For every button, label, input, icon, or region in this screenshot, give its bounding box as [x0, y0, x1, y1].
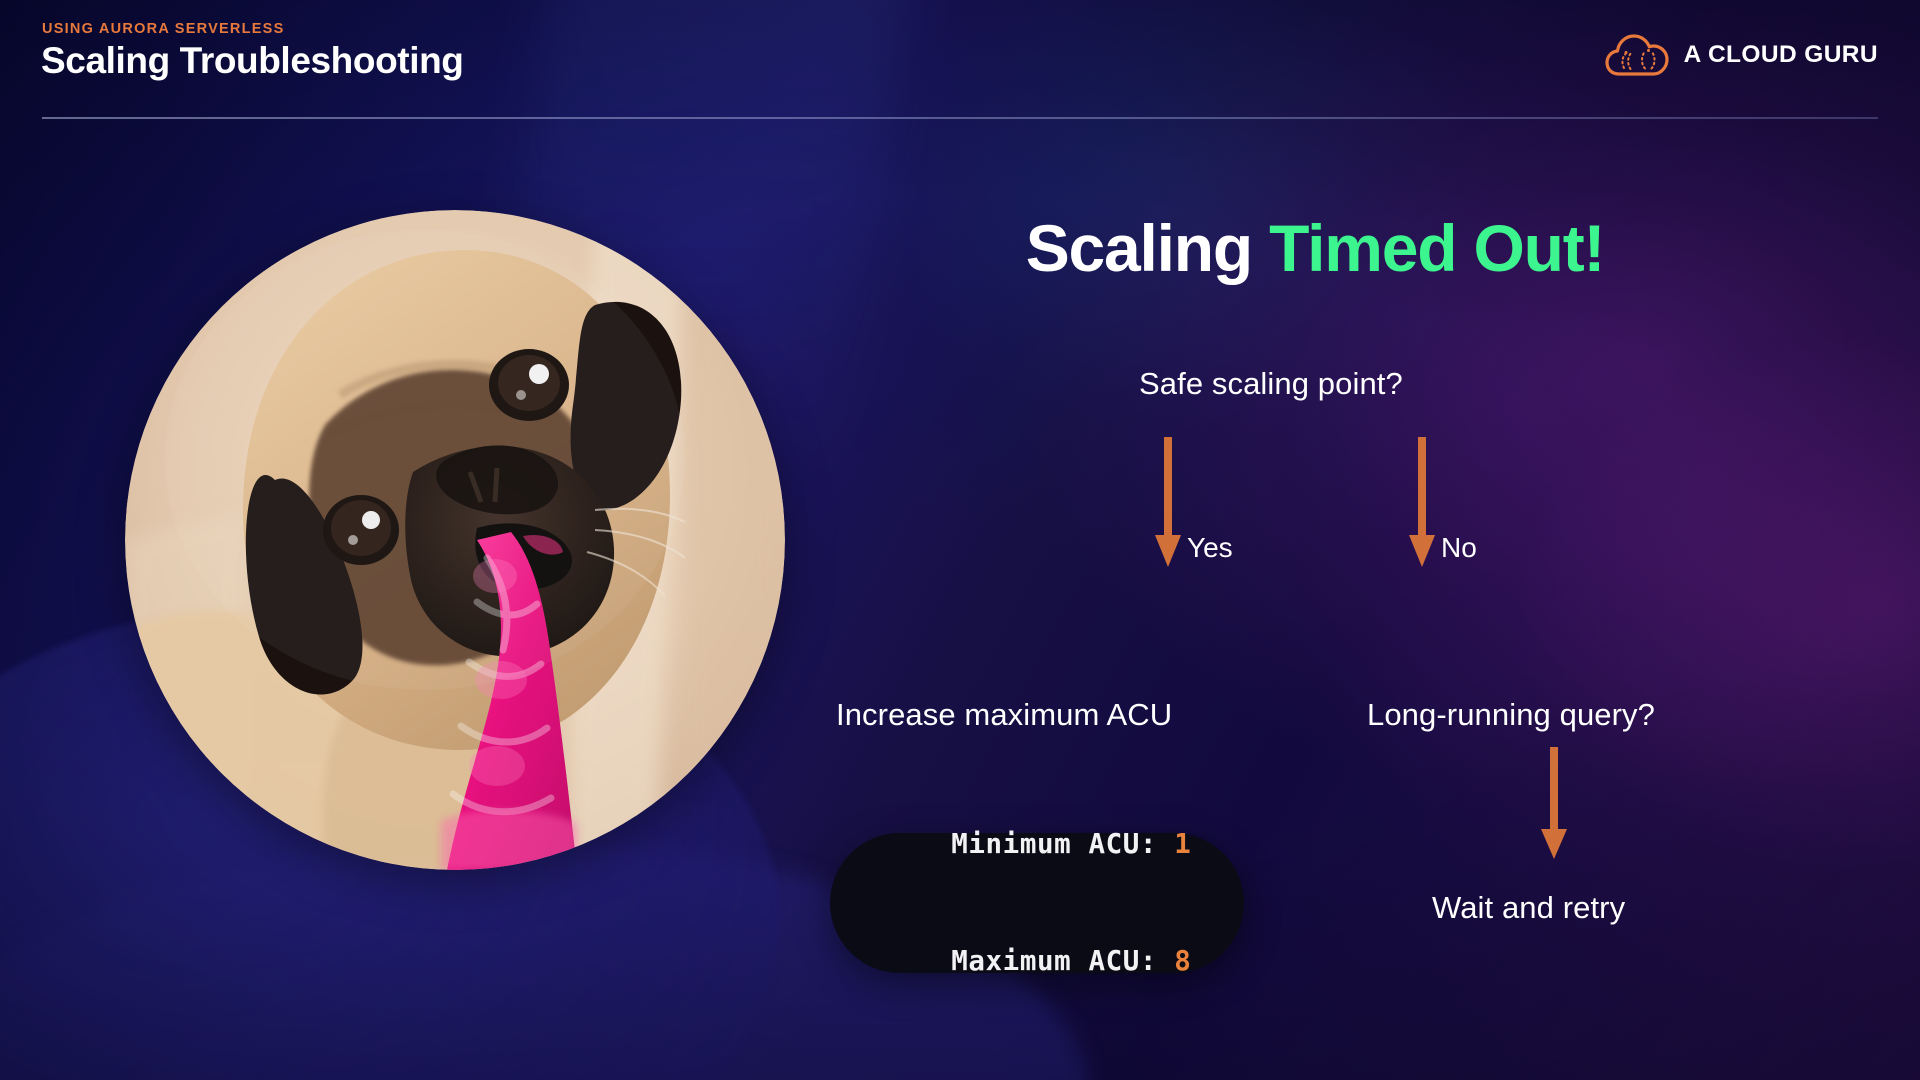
header-divider	[42, 117, 1878, 119]
flow-edge-label-yes: Yes	[1187, 532, 1233, 564]
code-label-minimum-acu: Minimum ACU:	[951, 828, 1174, 860]
cloud-icon	[1605, 32, 1669, 78]
arrow-down-yes-icon	[1155, 437, 1181, 567]
flow-edge-label-no: No	[1441, 532, 1477, 564]
arrow-down-no-icon	[1409, 437, 1435, 567]
code-value-minimum-acu: 1	[1174, 828, 1191, 860]
main-title-green: Timed Out!	[1269, 211, 1604, 285]
pug-photo	[125, 210, 785, 870]
code-line-minimum-acu: Minimum ACU: 1	[883, 786, 1192, 903]
course-kicker: USING AURORA SERVERLESS	[42, 21, 285, 37]
flow-node-wait-and-retry: Wait and retry	[1432, 890, 1625, 926]
acu-config-box: Minimum ACU: 1 Maximum ACU: 8	[830, 833, 1244, 973]
flow-node-question: Safe scaling point?	[1139, 366, 1403, 402]
code-line-maximum-acu: Maximum ACU: 8	[883, 903, 1192, 1020]
flow-node-increase-acu: Increase maximum ACU	[836, 697, 1172, 733]
page-title: Scaling Troubleshooting	[41, 40, 463, 82]
slide-header: USING AURORA SERVERLESS Scaling Troubles…	[0, 0, 1920, 120]
brand-name: A CLOUD GURU	[1684, 41, 1878, 69]
code-value-maximum-acu: 8	[1174, 945, 1191, 977]
code-label-maximum-acu: Maximum ACU:	[951, 945, 1174, 977]
brand-logo: A CLOUD GURU	[1605, 32, 1878, 78]
flow-node-long-running-query: Long-running query?	[1367, 697, 1655, 733]
main-title: Scaling Timed Out!	[920, 215, 1710, 281]
arrow-down-wait-icon	[1541, 747, 1567, 859]
main-title-white: Scaling	[1026, 211, 1269, 285]
